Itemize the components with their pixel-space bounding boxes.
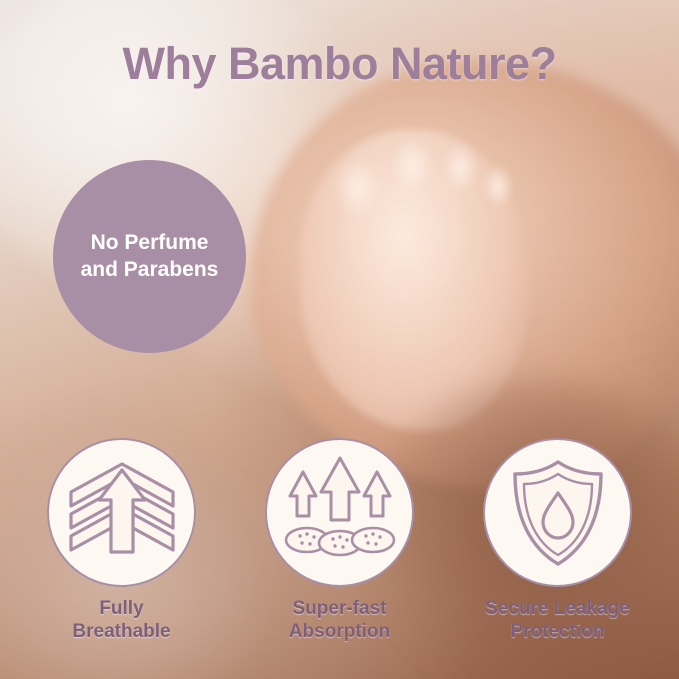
background-baby-toes [330, 128, 520, 248]
no-perfume-badge: No Perfume and Parabens [53, 160, 246, 353]
feature-icon-circle [483, 438, 632, 587]
feature-caption: Fully Breathable [72, 598, 170, 644]
feature-caption: Super-fast Absorption [289, 598, 390, 644]
shield-droplet-icon [493, 448, 623, 578]
feature-super-fast-absorption: Super-fast Absorption [245, 438, 435, 644]
feature-secure-leakage-protection: Secure Leakage Protection [463, 438, 653, 644]
absorption-arrows-icon [275, 448, 405, 578]
breathable-layers-arrow-icon [57, 448, 187, 578]
feature-list: Fully Breathable [0, 438, 679, 644]
feature-fully-breathable: Fully Breathable [27, 438, 217, 644]
no-perfume-badge-label: No Perfume and Parabens [81, 230, 219, 284]
feature-caption: Secure Leakage Protection [485, 598, 630, 644]
feature-icon-circle [47, 438, 196, 587]
page-title: Why Bambo Nature? [0, 38, 679, 90]
feature-icon-circle [265, 438, 414, 587]
promo-image: Why Bambo Nature? No Perfume and Paraben… [0, 0, 679, 679]
